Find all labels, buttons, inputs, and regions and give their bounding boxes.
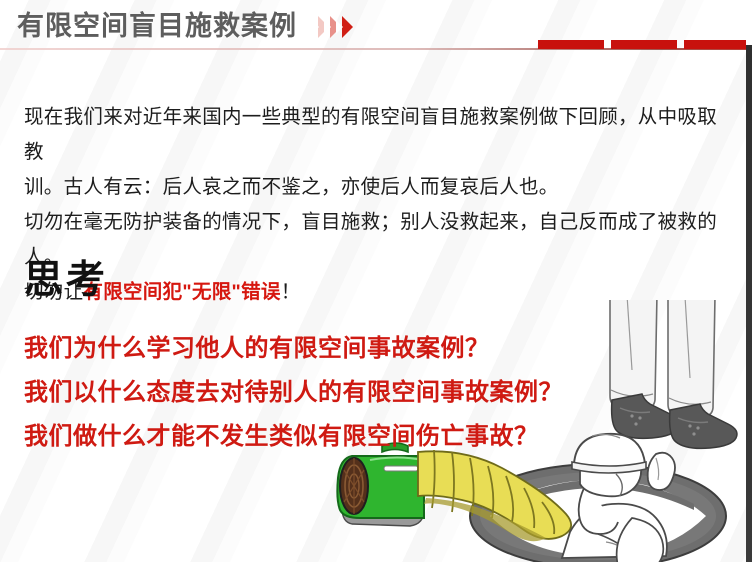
paragraph-line-4-suffix: ！ (281, 281, 301, 303)
question-item-1: 我们为什么学习他人的有限空间事故案例？ (24, 327, 563, 371)
paragraph-line-4-highlight: 有限空间犯"无限"错误 (83, 281, 280, 303)
standing-person-legs-with-work-boots (602, 300, 752, 460)
paragraph-line-3: 切勿在毫无防护装备的情况下，盲目施救；别人没救起来，自己反而成了被救的人。 (24, 205, 724, 275)
header-dash-1 (538, 40, 604, 49)
paragraph-line-1: 现在我们来对近年来国内一些典型的有限空间盲目施救案例做下回顾，从中吸取教 (24, 100, 724, 170)
yellow-flexible-air-duct (418, 450, 571, 541)
slide-header: 有限空间盲目施救案例 (0, 0, 752, 52)
paragraph-line-2: 训。古人有云：后人哀之而不鉴之，亦使后人而复哀后人也。 (24, 170, 724, 205)
right-border-strip (746, 0, 752, 562)
paragraph-line-4: 切勿让有限空间犯"无限"错误！ (24, 275, 724, 310)
body-paragraph: 现在我们来对近年来国内一些典型的有限空间盲目施救案例做下回顾，从中吸取教 训。古… (24, 100, 724, 310)
section-heading-think: 思考 (24, 258, 108, 304)
header-dash-2 (611, 40, 677, 49)
page-title: 有限空间盲目施救案例 (17, 9, 297, 43)
slide-canvas: 有限空间盲目施救案例 现在我们来对近年来国内一些典型的有限空间盲目施救案例做下回… (0, 0, 752, 562)
chevron-right-icon-3 (342, 16, 353, 38)
question-item-2: 我们以什么态度去对待别人的有限空间事故案例？ (24, 371, 563, 415)
question-list: 我们为什么学习他人的有限空间事故案例？ 我们以什么态度去对待别人的有限空间事故案… (24, 327, 563, 459)
manhole-opening (470, 464, 726, 562)
worker-with-hard-hat-entering-manhole (562, 434, 675, 562)
header-dash-3 (684, 40, 750, 49)
triple-chevron-right-icon (318, 16, 353, 38)
header-dash-accent (538, 40, 750, 49)
question-item-3: 我们做什么才能不发生类似有限空间伤亡事故？ (24, 415, 563, 459)
